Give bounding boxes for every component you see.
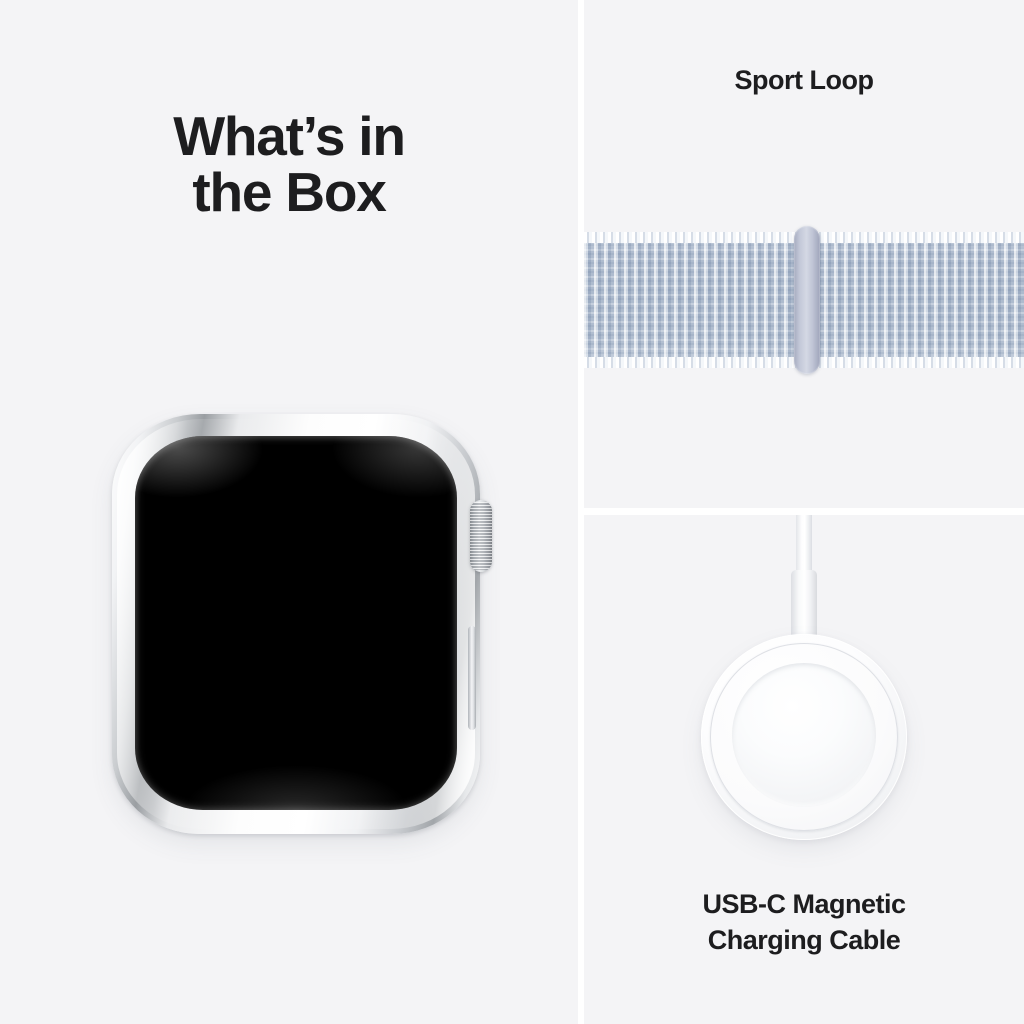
digital-crown-icon <box>470 500 492 572</box>
whats-in-the-box-figure: What’s in the Box Sport Loop USB-C Magne… <box>0 0 1024 1024</box>
watch-screen <box>135 436 457 810</box>
panel-watch: What’s in the Box <box>0 0 578 1024</box>
band-keeper-loop <box>794 226 820 374</box>
page-title-line-1: What’s in <box>173 105 405 167</box>
page-title: What’s in the Box <box>0 108 578 220</box>
charging-cable-caption-line-1: USB-C Magnetic <box>702 889 905 919</box>
apple-watch-image <box>112 414 480 834</box>
charging-cable-caption: USB-C Magnetic Charging Cable <box>584 886 1024 958</box>
charger-puck <box>701 634 907 840</box>
sport-loop-caption: Sport Loop <box>584 62 1024 98</box>
page-title-line-2: the Box <box>0 164 578 220</box>
cable-cord <box>796 515 812 577</box>
side-button-icon <box>468 626 476 730</box>
charging-cable-caption-line-2: Charging Cable <box>584 922 1024 958</box>
cable-strain-relief <box>791 570 817 642</box>
charger-inner-disc <box>732 663 876 807</box>
sport-loop-band-image <box>584 232 1024 368</box>
